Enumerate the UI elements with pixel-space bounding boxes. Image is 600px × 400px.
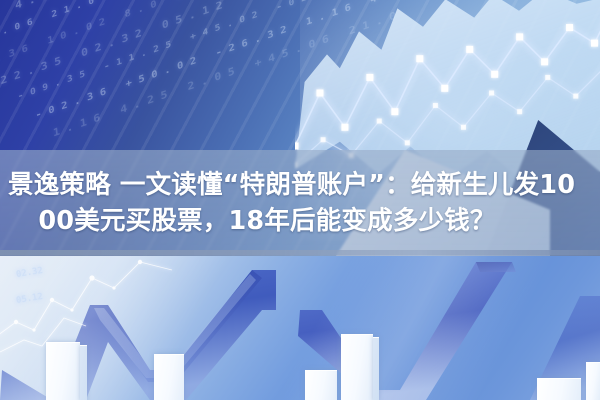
chart-node-marker xyxy=(377,119,382,124)
chart-node-marker xyxy=(316,89,323,96)
chart-node-marker xyxy=(321,137,326,142)
chart-node-marker xyxy=(517,109,522,114)
chart-node-marker xyxy=(573,94,578,99)
bar-column-4 xyxy=(341,334,373,400)
chart-node-marker xyxy=(591,40,598,47)
headline-line-1: 景逸策略 一文读懂“特朗普账户”：给新生儿发10 xyxy=(6,167,594,203)
chart-node-marker xyxy=(541,58,548,65)
chart-node-marker xyxy=(489,90,494,95)
chart-node-marker xyxy=(391,108,398,115)
cover-image-canvas: -09.35 -11.25 +45.02 -02.36 +50.02-02.36… xyxy=(0,0,600,400)
chart-node-marker xyxy=(433,103,438,108)
chart-node-marker xyxy=(441,85,448,92)
chart-node-marker xyxy=(341,124,348,131)
headline-block: 景逸策略 一文读懂“特朗普账户”：给新生儿发10 00美元买股票，18年后能变成… xyxy=(0,150,600,255)
chart-node-marker xyxy=(466,46,473,53)
chart-node-marker xyxy=(461,125,466,130)
chart-node-marker xyxy=(295,142,299,149)
chart-node-marker xyxy=(491,71,498,78)
chart-node-marker xyxy=(516,33,523,40)
chart-node-marker xyxy=(566,24,573,31)
bar-column-6 xyxy=(586,362,600,400)
bar-column-3 xyxy=(305,370,337,400)
chart-node-marker xyxy=(416,55,423,62)
chart-node-marker xyxy=(545,75,550,80)
headline-line-2: 00美元买股票，18年后能变成多少钱？ xyxy=(6,203,594,239)
bar-column-4-side xyxy=(373,337,379,400)
bar-column-5 xyxy=(537,378,581,400)
chart-node-marker xyxy=(366,74,373,81)
chart-node-marker xyxy=(405,140,410,145)
